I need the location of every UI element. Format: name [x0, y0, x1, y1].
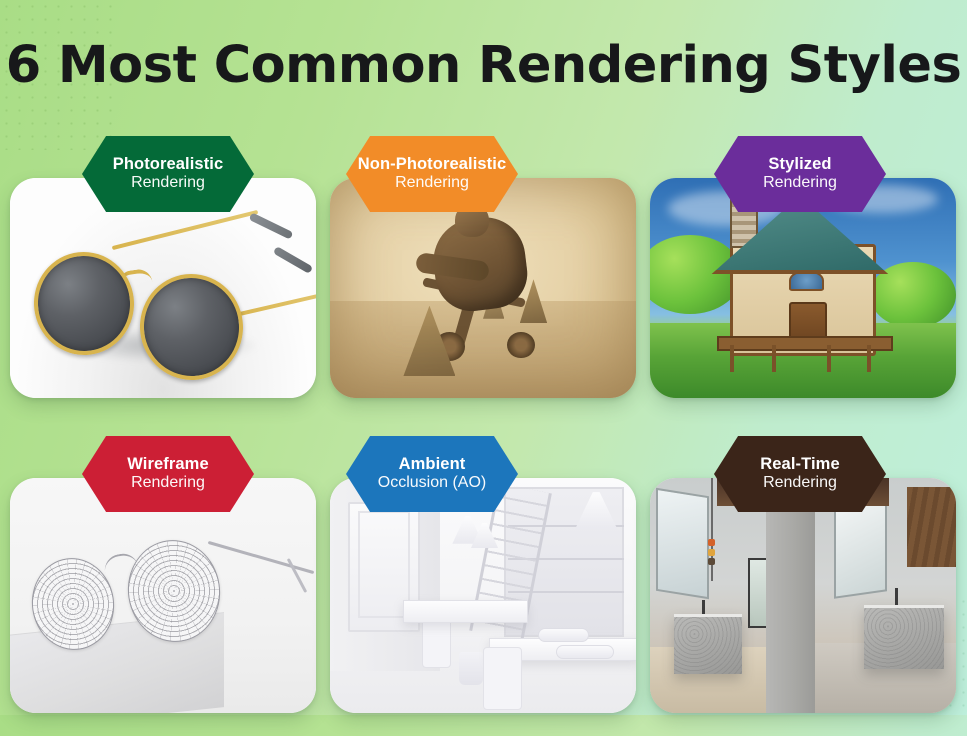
ao-chair: [483, 647, 522, 710]
card-stylized[interactable]: Stylized Rendering: [650, 136, 956, 426]
badge-title-line2: Occlusion (AO): [378, 474, 486, 492]
rt-stone-sink: [674, 614, 741, 673]
card-photorealistic[interactable]: Photorealistic Rendering: [10, 136, 316, 426]
wireframe-temple-tip: [287, 558, 307, 593]
badge-photorealistic[interactable]: Photorealistic Rendering: [82, 136, 254, 212]
card-ambient-occlusion[interactable]: Ambient Occlusion (AO): [330, 436, 636, 726]
ao-table: [403, 600, 527, 623]
rt-pendant-bead: [708, 539, 715, 546]
badge-wireframe[interactable]: Wireframe Rendering: [82, 436, 254, 512]
ao-paper-roll: [556, 645, 613, 659]
badge-title-line1: Non-Photorealistic: [358, 156, 506, 174]
ao-waste-bin: [459, 652, 483, 685]
card-image-real-time: [650, 478, 956, 713]
badge-ambient-occlusion[interactable]: Ambient Occlusion (AO): [346, 436, 518, 512]
rt-stone-sink: [864, 605, 944, 669]
card-wireframe[interactable]: Wireframe Rendering: [10, 436, 316, 726]
card-grid: Photorealistic Rendering: [0, 136, 967, 736]
ao-paper-roll: [538, 628, 589, 642]
artwork-realtime-interior: [650, 478, 956, 713]
card-image-ambient-occlusion: [330, 478, 636, 713]
page-title: 6 Most Common Rendering Styles: [0, 36, 967, 95]
badge-stylized[interactable]: Stylized Rendering: [714, 136, 886, 212]
tree-left: [650, 235, 742, 314]
badge-title-line1: Photorealistic: [113, 156, 224, 174]
badge-title-line2: Rendering: [763, 474, 837, 492]
sunglasses-tip-left: [249, 212, 294, 239]
card-real-time[interactable]: Real-Time Rendering: [650, 436, 956, 726]
sunglasses-temple-left: [112, 210, 259, 250]
badge-title-line2: Rendering: [763, 174, 837, 192]
rt-wood-wall: [907, 487, 956, 567]
badge-title-line1: Wireframe: [127, 456, 208, 474]
deck-post: [827, 345, 831, 371]
badge-title-line2: Rendering: [395, 174, 469, 192]
badge-title-line1: Real-Time: [760, 456, 839, 474]
card-row-2: Wireframe Rendering: [0, 436, 967, 736]
badge-real-time[interactable]: Real-Time Rendering: [714, 436, 886, 512]
artwork-ao-interior: [330, 478, 636, 713]
card-image-wireframe: [10, 478, 316, 713]
rt-pendant-bead: [708, 558, 715, 565]
badge-title-line2: Rendering: [131, 474, 205, 492]
artwork-wireframe-sunglasses: [10, 478, 316, 713]
rt-concrete-pillar: [766, 478, 815, 713]
badge-title-line2: Rendering: [131, 174, 205, 192]
card-row-1: Photorealistic Rendering: [0, 136, 967, 436]
rt-pendant-cord: [711, 478, 713, 581]
badge-title-line1: Ambient: [399, 456, 466, 474]
rt-pendant-bead: [708, 549, 715, 556]
sunglasses-tip-right: [273, 246, 313, 274]
deck-post: [772, 345, 776, 371]
card-non-photorealistic[interactable]: Non-Photorealistic Rendering: [330, 136, 636, 426]
badge-title-line1: Stylized: [768, 156, 831, 174]
rt-window-left: [656, 488, 709, 599]
badge-non-photorealistic[interactable]: Non-Photorealistic Rendering: [346, 136, 518, 212]
wireframe-temple: [208, 541, 315, 574]
deck-post: [867, 345, 871, 371]
deck-post: [730, 345, 734, 371]
